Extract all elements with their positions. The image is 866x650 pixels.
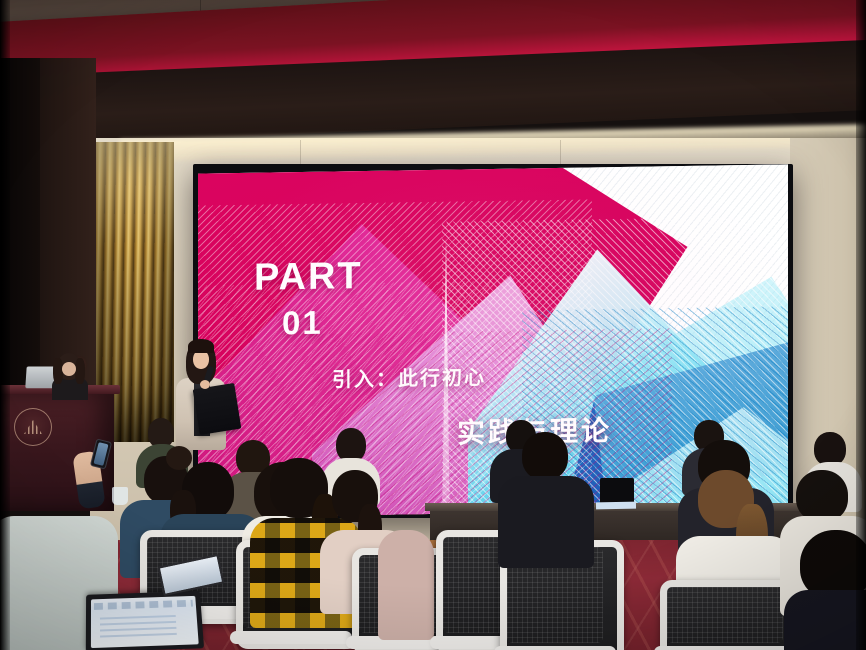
slide-subtitle: 引入：此行初心 xyxy=(332,361,486,392)
conference-hall-photo: PART 01 引入：此行初心 实践与理论 xyxy=(0,0,866,650)
slide-part-label: PART xyxy=(254,255,363,300)
desk-papers xyxy=(596,502,636,510)
audience-laptop[interactable] xyxy=(86,591,204,650)
drinking-cup xyxy=(112,487,128,505)
university-seal-icon xyxy=(14,408,52,446)
frame-right-edge xyxy=(856,0,866,650)
slide-part-number: 01 xyxy=(282,304,323,343)
chair[interactable] xyxy=(660,580,790,650)
desk-monitor[interactable] xyxy=(600,478,634,504)
frame-left-edge xyxy=(0,0,10,650)
presenter-folder xyxy=(193,383,242,435)
